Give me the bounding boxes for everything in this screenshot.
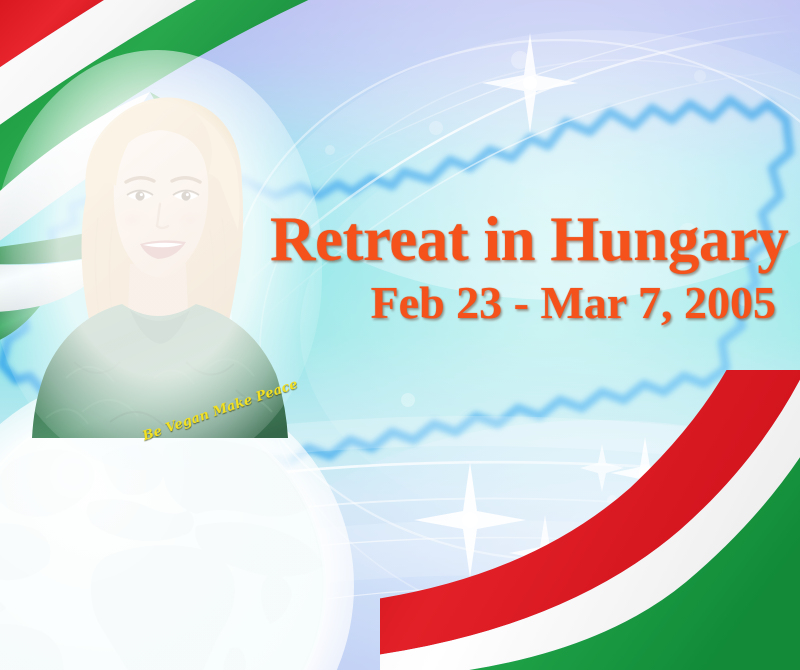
sparkle-icon	[412, 576, 492, 652]
portrait-illustration	[26, 78, 292, 438]
retreat-banner: Be Vegan Make Peace Retreat in Hungary F…	[0, 0, 800, 670]
sparkle-icon	[500, 510, 590, 596]
hungarian-flag-ribbon-bottom-right-icon	[380, 370, 800, 670]
title-block: Retreat in Hungary Feb 23 - Mar 7, 2005	[270, 208, 790, 330]
event-dates: Feb 23 - Mar 7, 2005	[270, 277, 776, 330]
background-glow-middle	[300, 120, 800, 540]
decorative-arcs	[0, 0, 800, 670]
globe-icon	[0, 398, 328, 670]
background-glow-bottom	[250, 420, 800, 670]
sparkle-icon	[400, 455, 540, 585]
bokeh-dots	[0, 0, 800, 670]
sparkle-icon	[470, 28, 590, 138]
sparkle-icon	[652, 444, 722, 510]
portrait-of-woman: Be Vegan Make Peace	[26, 78, 292, 438]
earth-globe	[0, 398, 328, 670]
dress-slogan-text: Be Vegan Make Peace	[141, 391, 259, 444]
sparkle-icon	[572, 440, 632, 496]
globe-halo	[0, 372, 354, 670]
sparkle-icon	[600, 430, 690, 516]
hungary-map-outline-icon	[0, 0, 800, 670]
page-title: Retreat in Hungary	[270, 208, 776, 271]
